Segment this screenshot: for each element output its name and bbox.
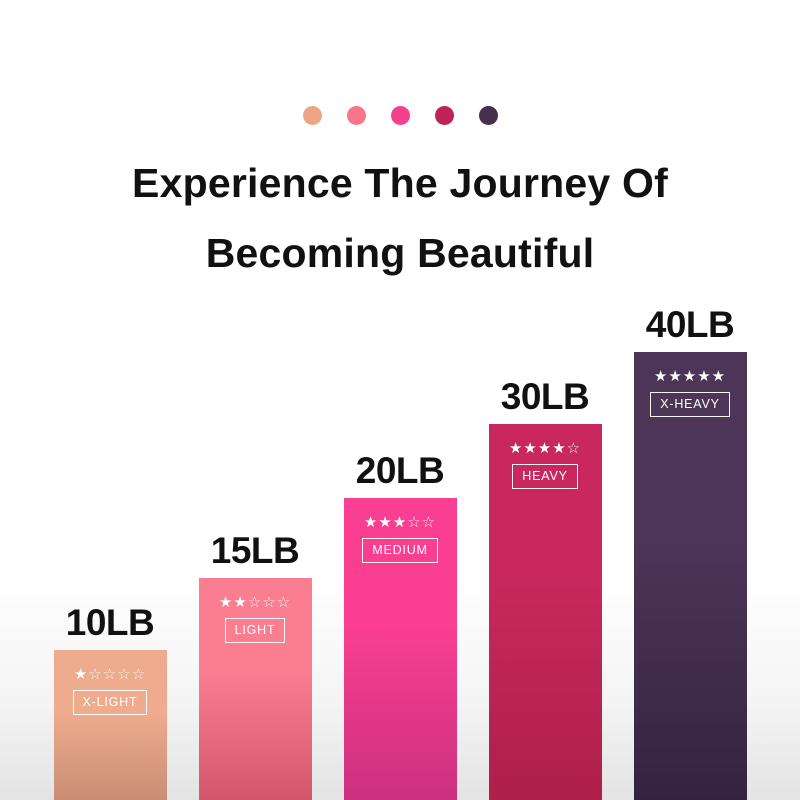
- stars-empty-icon: ☆☆: [407, 514, 436, 531]
- bar-weight-label: 30LB: [501, 376, 589, 418]
- bar-rect[interactable]: ★★★★★X-HEAVY: [634, 352, 747, 800]
- star-rating: ★★★★★: [654, 369, 726, 384]
- bar-rect[interactable]: ★★★☆☆MEDIUM: [344, 498, 457, 800]
- bar-column-x-heavy[interactable]: 40LB★★★★★X-HEAVY: [634, 304, 747, 800]
- tier-badge: HEAVY: [512, 464, 577, 489]
- stars-filled-icon: ★★★: [364, 514, 407, 531]
- dot-row: [0, 106, 800, 125]
- dot-heavy-icon: [435, 106, 454, 125]
- dot-x-heavy-icon: [479, 106, 498, 125]
- star-rating: ★★★★☆: [509, 441, 581, 456]
- bar-column-heavy[interactable]: 30LB★★★★☆HEAVY: [489, 376, 602, 800]
- bar-weight-label: 20LB: [356, 450, 444, 492]
- stars-filled-icon: ★★: [219, 594, 248, 611]
- stars-filled-icon: ★★★★: [509, 440, 567, 457]
- dot-medium-icon: [391, 106, 410, 125]
- bar-weight-label: 15LB: [211, 530, 299, 572]
- tier-badge: MEDIUM: [362, 538, 438, 563]
- tier-badge: X-LIGHT: [73, 690, 148, 715]
- star-rating: ★☆☆☆☆: [74, 667, 146, 682]
- stars-filled-icon: ★: [74, 666, 88, 683]
- stars-filled-icon: ★★★★★: [654, 368, 726, 385]
- bar-column-light[interactable]: 15LB★★☆☆☆LIGHT: [199, 530, 312, 800]
- bar-column-medium[interactable]: 20LB★★★☆☆MEDIUM: [344, 450, 457, 800]
- bar-rect[interactable]: ★☆☆☆☆X-LIGHT: [54, 650, 167, 800]
- bar-weight-label: 40LB: [646, 304, 734, 346]
- stars-empty-icon: ☆☆☆: [248, 594, 291, 611]
- stars-empty-icon: ☆☆☆☆: [88, 666, 146, 683]
- page-title: Experience The Journey Of Becoming Beaut…: [0, 148, 800, 288]
- stars-empty-icon: ☆: [567, 440, 581, 457]
- bar-weight-label: 10LB: [66, 602, 154, 644]
- dot-x-light-icon: [303, 106, 322, 125]
- dot-light-icon: [347, 106, 366, 125]
- headline-line-2: Becoming Beautiful: [0, 218, 800, 288]
- resistance-bar-chart: 10LB★☆☆☆☆X-LIGHT15LB★★☆☆☆LIGHT20LB★★★☆☆M…: [0, 330, 800, 800]
- bar-rect[interactable]: ★★★★☆HEAVY: [489, 424, 602, 800]
- tier-badge: X-HEAVY: [650, 392, 730, 417]
- star-rating: ★★☆☆☆: [219, 595, 291, 610]
- bar-column-x-light[interactable]: 10LB★☆☆☆☆X-LIGHT: [54, 602, 167, 800]
- headline-line-1: Experience The Journey Of: [0, 148, 800, 218]
- bar-rect[interactable]: ★★☆☆☆LIGHT: [199, 578, 312, 800]
- star-rating: ★★★☆☆: [364, 515, 436, 530]
- tier-badge: LIGHT: [225, 618, 286, 643]
